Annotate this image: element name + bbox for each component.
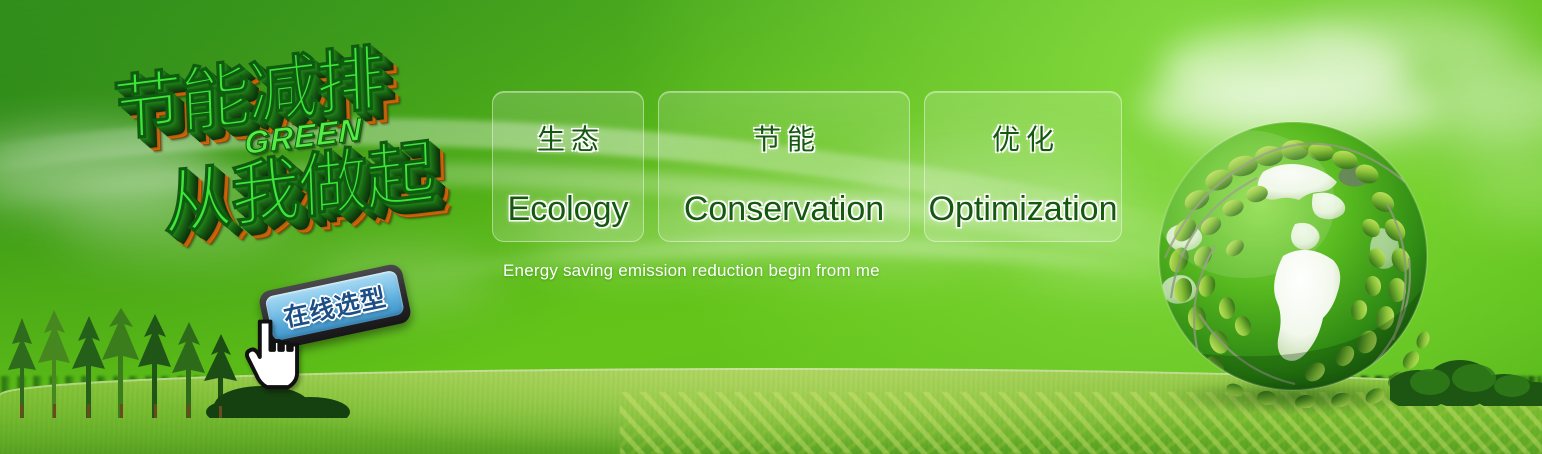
feature-card-ecology-en: Ecology	[508, 190, 629, 229]
banner-tagline: Energy saving emission reduction begin f…	[503, 261, 880, 281]
right-shrubs-icon	[1390, 336, 1542, 406]
feature-card-optimization-cn: 优化	[986, 118, 1060, 158]
globe-ground-shadow	[1163, 380, 1425, 414]
headline-3d-art: 节能减排 GREEN 从我做起	[96, 32, 486, 272]
feature-card-optimization-en: Optimization	[929, 190, 1118, 229]
feature-card-conservation[interactable]: 节能 Conservation	[658, 91, 910, 242]
feature-card-conservation-cn: 节能	[747, 118, 821, 158]
feature-cards: 生态 Ecology 节能 Conservation 优化 Optimizati…	[492, 91, 1122, 242]
feature-card-conservation-en: Conservation	[684, 190, 884, 229]
feature-card-optimization[interactable]: 优化 Optimization	[924, 91, 1122, 242]
pointing-hand-cursor-icon	[238, 318, 310, 396]
feature-card-ecology[interactable]: 生态 Ecology	[492, 91, 644, 242]
feature-card-ecology-cn: 生态	[531, 118, 605, 158]
green-energy-banner: 节能减排 GREEN 从我做起 在线选型 生态 Ecology 节能 Conse…	[0, 0, 1542, 454]
